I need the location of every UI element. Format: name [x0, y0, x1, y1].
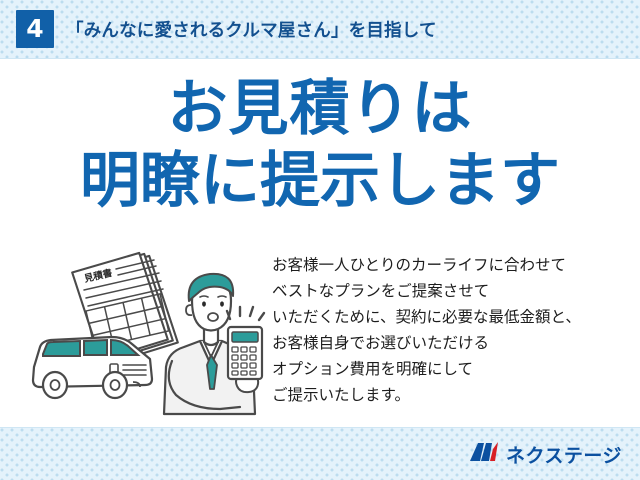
calculator-icon: [228, 327, 262, 379]
body-copy-line: ベストなプランをご提案させて: [272, 278, 632, 304]
headline-line-1: お見積りは: [0, 79, 640, 139]
step-number-badge: 4: [16, 10, 54, 48]
body-copy-line: オプション費用を明確にして: [272, 356, 632, 382]
body-copy-line: お客様自身でお選びいただける: [272, 330, 632, 356]
footer: ネクステージ: [0, 428, 640, 480]
brand-name: ネクステージ: [506, 441, 622, 468]
illustration-salesman-quote: 見積書: [24, 249, 272, 421]
body-copy-line: いただくために、契約に必要な最低金額と、: [272, 304, 632, 330]
nextage-n-logo-icon: [469, 440, 499, 468]
headline: お見積りは 明瞭に提示します: [0, 79, 640, 211]
promo-banner: 4 「みんなに愛されるクルマ屋さん」を目指して お見積りは 明瞭に提示します: [0, 0, 640, 480]
main-content: お見積りは 明瞭に提示します: [0, 59, 640, 428]
body-copy-line: お客様一人ひとりのカーライフに合わせて: [272, 252, 632, 278]
brand-lockup: ネクステージ: [469, 440, 622, 468]
headline-line-2: 明瞭に提示します: [0, 151, 640, 211]
sparkle-icon: [227, 307, 264, 320]
header-title: 「みんなに愛されるクルマ屋さん」を目指して: [66, 17, 437, 42]
body-copy-line: ご提示いたします。: [272, 382, 632, 408]
body-copy: お客様一人ひとりのカーライフに合わせて ベストなプランをご提案させて いただくた…: [272, 252, 632, 408]
van-icon: [33, 337, 152, 398]
header: 4 「みんなに愛されるクルマ屋さん」を目指して: [0, 0, 640, 58]
